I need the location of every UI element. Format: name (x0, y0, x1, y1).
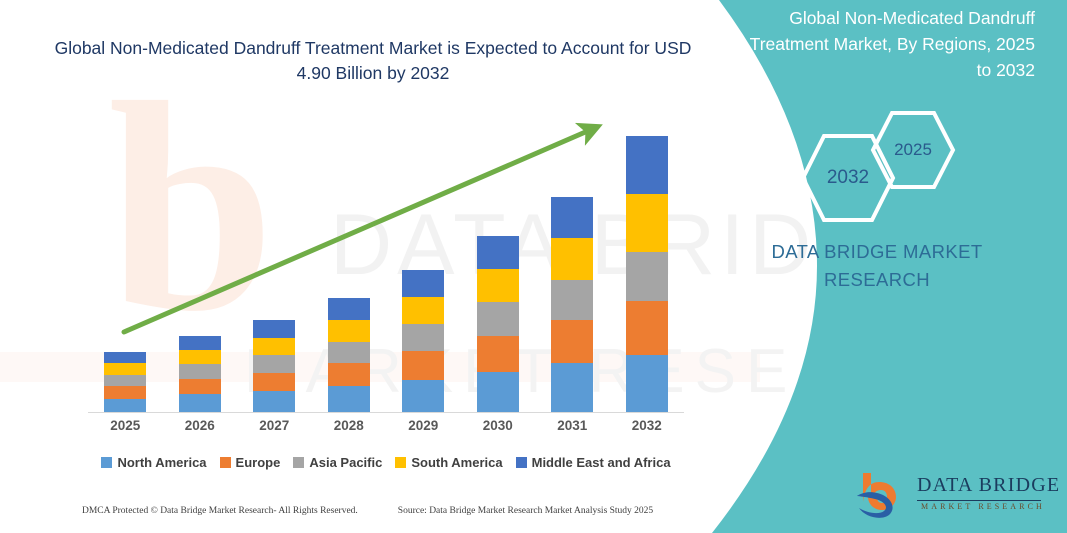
hexagon-2032-label: 2032 (827, 167, 869, 189)
x-axis-labels: 20252026202720282029203020312032 (88, 418, 684, 433)
bar-segment (253, 338, 295, 356)
bar-segment (551, 280, 593, 320)
bar-segment (179, 336, 221, 350)
stacked-bar (626, 136, 668, 412)
legend-item[interactable]: South America (395, 455, 502, 470)
bar-segment (104, 386, 146, 398)
stacked-bar (477, 236, 519, 412)
legend-item[interactable]: Asia Pacific (293, 455, 382, 470)
legend-item[interactable]: Middle East and Africa (516, 455, 671, 470)
footer-source: Source: Data Bridge Market Research Mark… (398, 506, 653, 516)
bar-segment (626, 136, 668, 194)
chart-title: Global Non-Medicated Dandruff Treatment … (48, 36, 698, 87)
brand-line-2: RESEARCH (687, 266, 1067, 294)
bar-segment (253, 391, 295, 412)
bar-segment (179, 364, 221, 378)
legend-swatch-icon (395, 457, 406, 468)
bar-column (390, 110, 456, 412)
legend-swatch-icon (220, 457, 231, 468)
bar-segment (402, 270, 444, 297)
x-axis-label: 2030 (465, 418, 531, 433)
legend-swatch-icon (293, 457, 304, 468)
data-bridge-logo-icon (855, 470, 913, 520)
legend-item[interactable]: Europe (220, 455, 281, 470)
bar-segment (402, 297, 444, 324)
x-axis-label: 2025 (92, 418, 158, 433)
bar-segment (328, 363, 370, 386)
x-axis-label: 2027 (241, 418, 307, 433)
footer: DMCA Protected © Data Bridge Market Rese… (0, 506, 700, 516)
bar-segment (626, 355, 668, 412)
bar-segment (328, 298, 370, 320)
bar-column (167, 110, 233, 412)
bar-segment (104, 363, 146, 374)
x-axis-label: 2028 (316, 418, 382, 433)
bar-segment (328, 386, 370, 412)
bar-segment (328, 320, 370, 342)
bar-segment (551, 320, 593, 363)
bar-segment (626, 301, 668, 355)
bar-segment (551, 363, 593, 412)
hexagon-2025: 2025 (870, 110, 956, 190)
side-panel: Global Non-Medicated Dandruff Treatment … (687, 0, 1067, 533)
legend-label: North America (117, 455, 206, 470)
legend-label: Middle East and Africa (532, 455, 671, 470)
footer-copyright: DMCA Protected © Data Bridge Market Rese… (82, 506, 358, 516)
brand-line-1: DATA BRIDGE MARKET (771, 241, 982, 262)
bar-segment (551, 238, 593, 279)
stacked-bar (104, 352, 146, 412)
bar-segment (253, 355, 295, 373)
stacked-bar (253, 320, 295, 412)
bar-segment (477, 336, 519, 372)
logo-wordmark: DATA BRIDGE (917, 474, 1060, 497)
bar-column (316, 110, 382, 412)
stacked-bar (402, 270, 444, 412)
hexagon-2025-label: 2025 (894, 140, 932, 160)
bar-segment (402, 324, 444, 351)
bar-column (241, 110, 307, 412)
bar-segment (402, 380, 444, 412)
legend-label: South America (411, 455, 502, 470)
bar-column (539, 110, 605, 412)
x-axis-line (88, 412, 684, 413)
side-panel-title: Global Non-Medicated Dandruff Treatment … (735, 6, 1035, 84)
bar-segment (626, 194, 668, 252)
bar-segment (179, 379, 221, 395)
bar-segment (104, 375, 146, 386)
stacked-bar (179, 336, 221, 412)
x-axis-label: 2032 (614, 418, 680, 433)
infographic-root: b DATA BRIDGE MARKET RESEARCH Global Non… (0, 0, 1067, 533)
x-axis-label: 2026 (167, 418, 233, 433)
stacked-bar-group (88, 110, 684, 412)
bar-segment (179, 350, 221, 364)
legend-label: Europe (236, 455, 281, 470)
bar-segment (477, 372, 519, 412)
bar-column (614, 110, 680, 412)
x-axis-label: 2031 (539, 418, 605, 433)
bar-segment (551, 197, 593, 238)
bar-segment (626, 252, 668, 302)
bar-segment (253, 320, 295, 338)
x-axis-label: 2029 (390, 418, 456, 433)
bar-segment (328, 342, 370, 364)
legend-swatch-icon (101, 457, 112, 468)
logo-divider (917, 500, 1041, 501)
legend-swatch-icon (516, 457, 527, 468)
bar-segment (179, 394, 221, 412)
stacked-bar (328, 298, 370, 412)
chart-plot-area (76, 110, 686, 413)
chart-legend: North AmericaEuropeAsia PacificSouth Ame… (86, 455, 686, 470)
bar-segment (477, 302, 519, 335)
bar-segment (402, 351, 444, 380)
bar-segment (104, 352, 146, 363)
stacked-bar (551, 197, 593, 412)
logo-subwordmark: MARKET RESEARCH (921, 502, 1045, 511)
bar-segment (104, 399, 146, 412)
side-panel-brand: DATA BRIDGE MARKET RESEARCH (687, 238, 1067, 294)
bar-segment (477, 269, 519, 302)
bar-column (465, 110, 531, 412)
bar-segment (253, 373, 295, 392)
company-logo: DATA BRIDGE MARKET RESEARCH (855, 468, 1055, 526)
bar-segment (477, 236, 519, 269)
legend-item[interactable]: North America (101, 455, 206, 470)
legend-label: Asia Pacific (309, 455, 382, 470)
bar-column (92, 110, 158, 412)
